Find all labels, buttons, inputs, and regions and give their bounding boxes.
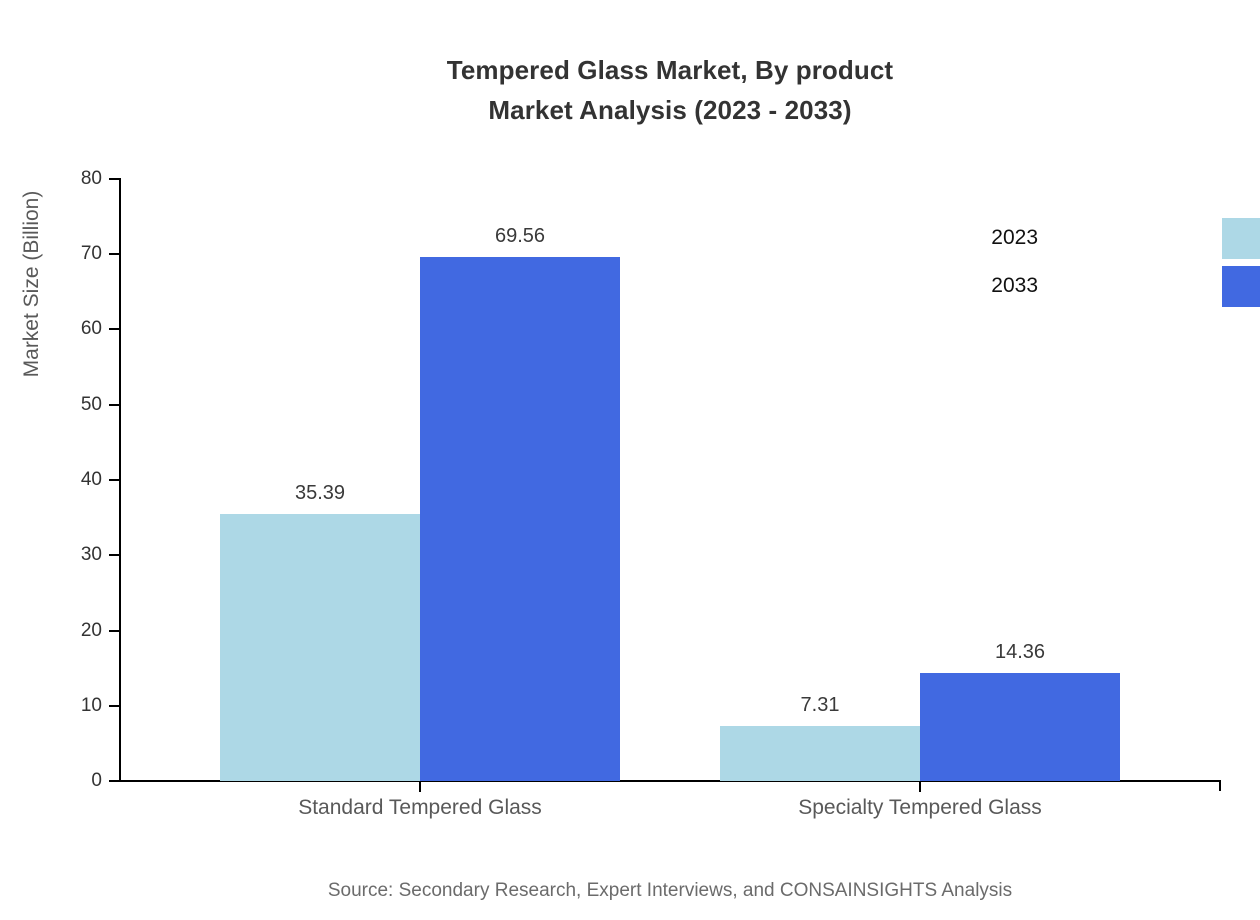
y-tick-mark-70 — [109, 253, 120, 255]
legend-label-2023: 2023 — [918, 226, 1038, 250]
y-tick-mark-80 — [109, 178, 120, 180]
bar-value-label-specialty-tempered-glass-2023: 7.31 — [720, 694, 920, 716]
bar-standard-tempered-glass-2023[interactable] — [220, 514, 420, 781]
y-tick-label-10: 10 — [42, 696, 102, 715]
y-tick-label-40: 40 — [42, 470, 102, 489]
legend-swatch-2023-icon — [1222, 218, 1260, 259]
bar-value-label-standard-tempered-glass-2033: 69.56 — [420, 225, 620, 247]
y-tick-mark-10 — [109, 705, 120, 707]
chart-title-line-2: Market Analysis (2023 - 2033) — [0, 90, 1260, 130]
chart-title-line-1: Tempered Glass Market, By product — [447, 55, 893, 85]
x-tick-label-standard-tempered-glass: Standard Tempered Glass — [240, 794, 600, 822]
y-tick-mark-60 — [109, 328, 120, 330]
y-tick-label-20: 20 — [42, 621, 102, 640]
y-tick-mark-50 — [109, 404, 120, 406]
y-tick-mark-0 — [109, 780, 120, 782]
legend-swatch-2033-icon — [1222, 266, 1260, 307]
y-tick-label-30: 30 — [42, 545, 102, 564]
bar-standard-tempered-glass-2033[interactable] — [420, 257, 620, 781]
x-tick-mark-1 — [919, 781, 921, 792]
chart-title: Tempered Glass Market, By product Market… — [0, 50, 1260, 130]
y-tick-label-80: 80 — [42, 169, 102, 188]
source-note: Source: Secondary Research, Expert Inter… — [0, 878, 1260, 904]
bar-specialty-tempered-glass-2023[interactable] — [720, 726, 920, 781]
x-tick-label-specialty-tempered-glass: Specialty Tempered Glass — [740, 794, 1100, 822]
y-axis-title: Market Size (Billion) — [20, 4, 44, 564]
bar-specialty-tempered-glass-2033[interactable] — [920, 673, 1120, 781]
y-tick-label-60: 60 — [42, 319, 102, 338]
legend-label-2033: 2033 — [918, 274, 1038, 298]
bar-value-label-standard-tempered-glass-2023: 35.39 — [220, 482, 420, 504]
y-tick-mark-20 — [109, 630, 120, 632]
y-tick-mark-40 — [109, 479, 120, 481]
x-tick-mark-0 — [419, 781, 421, 792]
y-tick-label-0: 0 — [42, 771, 102, 790]
plot-area: 35.39 69.56 7.31 14.36 — [120, 178, 1220, 781]
chart-container: Tempered Glass Market, By product Market… — [0, 0, 1260, 920]
y-tick-label-50: 50 — [42, 395, 102, 414]
bar-value-label-specialty-tempered-glass-2033: 14.36 — [920, 641, 1120, 663]
x-axis-end-cap — [1219, 780, 1221, 791]
y-tick-mark-30 — [109, 554, 120, 556]
y-tick-label-70: 70 — [42, 244, 102, 263]
